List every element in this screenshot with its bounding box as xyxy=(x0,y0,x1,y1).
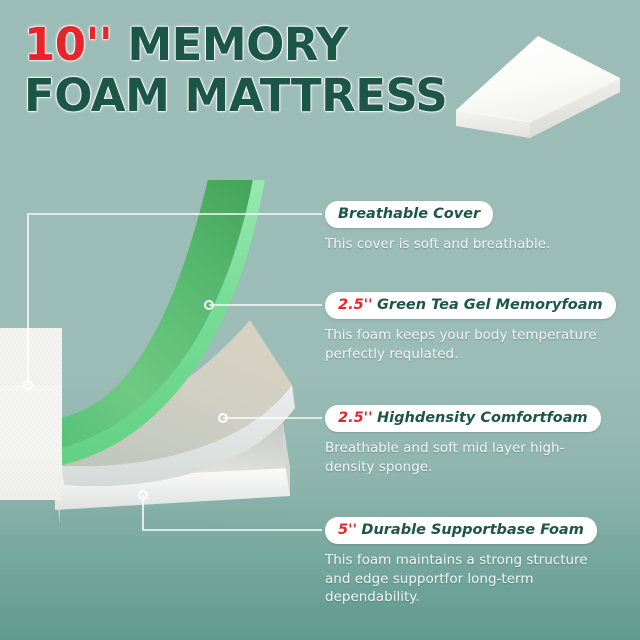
page-title: 10'' MEMORY FOAM MATTRESS xyxy=(24,22,454,118)
callout-title-3: Highdensity Comfortfoam xyxy=(377,410,588,426)
callout-desc-2: This foam keeps your body temperature pe… xyxy=(325,326,613,363)
callout-pill-4: 5'' Durable Supportbase Foam xyxy=(325,517,597,544)
product-photo xyxy=(420,22,635,142)
callout-highdensity-comfortfoam: 2.5'' Highdensity Comfortfoam Breathable… xyxy=(325,405,613,476)
callout-size-4: 5'' xyxy=(338,522,357,538)
headline-line-2: FOAM MATTRESS xyxy=(24,73,454,118)
headline-line-1-text: MEMORY xyxy=(112,18,348,71)
callout-pill-2: 2.5'' Green Tea Gel Memoryfoam xyxy=(325,292,616,319)
mattress-top-face xyxy=(456,36,620,122)
callout-desc-4: This foam maintains a strong structure a… xyxy=(325,551,613,607)
headline-line-1: 10'' MEMORY xyxy=(24,22,454,67)
ground-shadow xyxy=(55,510,290,526)
infographic-root: 10'' MEMORY FOAM MATTRESS xyxy=(0,0,640,640)
callout-title-2: Green Tea Gel Memoryfoam xyxy=(377,297,603,313)
callout-green-tea-gel-memoryfoam: 2.5'' Green Tea Gel Memoryfoam This foam… xyxy=(325,292,616,363)
callout-size-2: 2.5'' xyxy=(338,297,373,313)
callout-title-4: Durable Supportbase Foam xyxy=(361,522,583,538)
cover-texture-shade xyxy=(0,385,62,500)
callout-durable-supportbase-foam: 5'' Durable Supportbase Foam This foam m… xyxy=(325,517,613,607)
callout-pill-3: 2.5'' Highdensity Comfortfoam xyxy=(325,405,601,432)
callout-breathable-cover: Breathable Cover This cover is soft and … xyxy=(325,201,550,254)
callout-size-3: 2.5'' xyxy=(338,410,373,426)
mattress-layers-diagram xyxy=(0,180,330,600)
headline-size: 10'' xyxy=(24,18,112,71)
callout-title-1: Breathable Cover xyxy=(338,206,480,222)
callout-pill-1: Breathable Cover xyxy=(325,201,493,228)
callout-desc-3: Breathable and soft mid layer high-densi… xyxy=(325,439,613,476)
callout-desc-1: This cover is soft and breathable. xyxy=(325,235,550,254)
